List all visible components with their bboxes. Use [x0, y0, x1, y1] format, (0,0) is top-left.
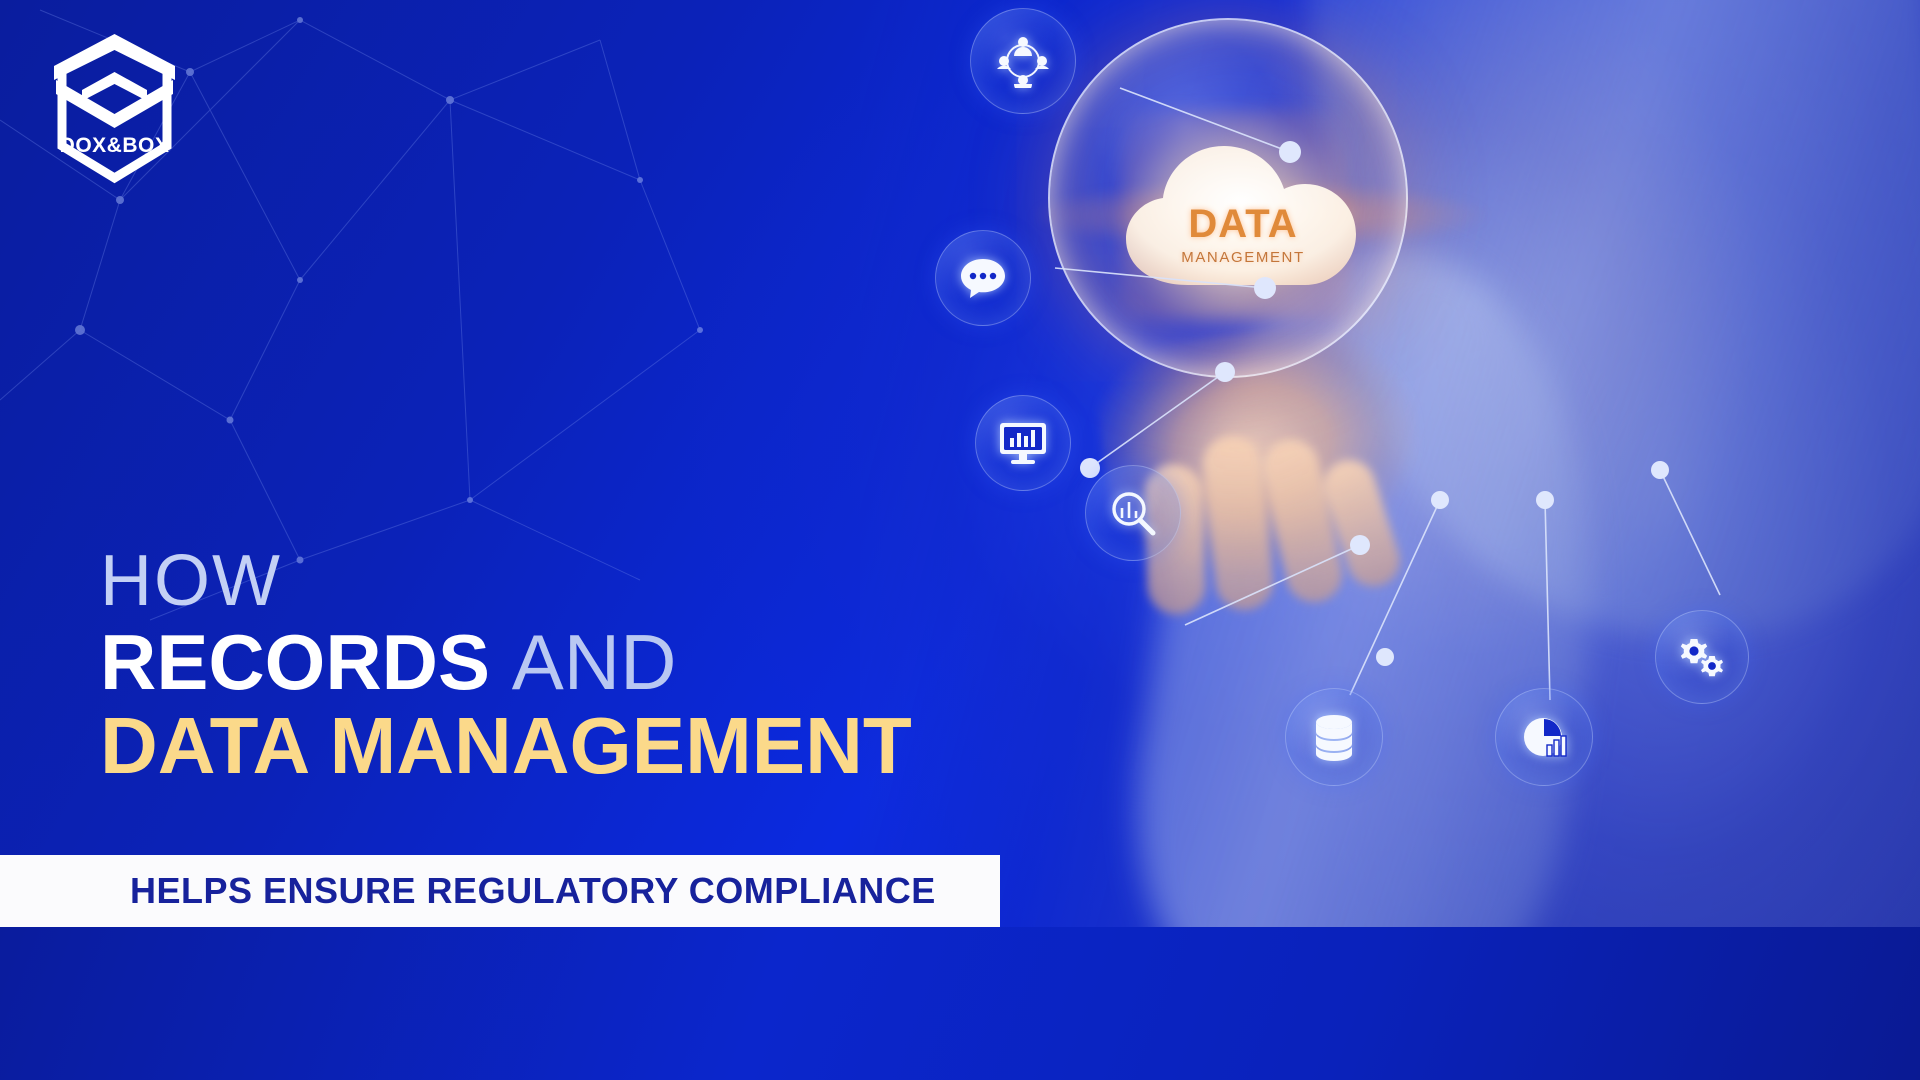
- database-icon-bubble[interactable]: [1285, 688, 1383, 786]
- cloud-subtitle: MANAGEMENT: [1181, 249, 1305, 266]
- logo-mark-icon: DOX&BOX: [42, 28, 187, 188]
- pie-chart-icon: [1520, 714, 1568, 760]
- headline-and: AND: [512, 618, 677, 706]
- headline-records: RECORDS: [100, 618, 512, 706]
- cloud-label: DATA MANAGEMENT: [1118, 140, 1368, 300]
- headline-line-2: RECORDS AND: [100, 623, 1100, 703]
- pie-chart-icon-bubble[interactable]: [1495, 688, 1593, 786]
- dox-and-box-logo[interactable]: DOX&BOX: [42, 28, 187, 188]
- users-network-icon-bubble[interactable]: [970, 8, 1076, 114]
- bottom-fill: [0, 927, 1920, 1080]
- data-cloud-graphic: DATA MANAGEMENT: [1118, 140, 1368, 300]
- banner-root: DATA MANAGEMENT: [0, 0, 1920, 1080]
- monitor-chart-icon-bubble[interactable]: [975, 395, 1071, 491]
- monitor-chart-icon: [998, 420, 1048, 466]
- magnifier-chart-icon: [1108, 488, 1158, 538]
- headline-block: HOW RECORDS AND DATA MANAGEMENT: [100, 545, 1100, 786]
- subtitle-text: HELPS ENSURE REGULATORY COMPLIANCE: [130, 870, 936, 912]
- database-icon: [1312, 713, 1356, 761]
- cloud-title: DATA: [1188, 204, 1297, 244]
- headline-line-3: DATA MANAGEMENT: [100, 705, 1100, 787]
- logo-wordmark: DOX&BOX: [60, 134, 170, 157]
- gears-icon-bubble[interactable]: [1655, 610, 1749, 704]
- gears-icon: [1677, 635, 1727, 679]
- subtitle-band: HELPS ENSURE REGULATORY COMPLIANCE: [0, 855, 1000, 927]
- chat-bubble-icon: [959, 256, 1007, 300]
- headline-line-1: HOW: [100, 545, 1100, 617]
- chat-bubble-icon-bubble[interactable]: [935, 230, 1031, 326]
- users-network-icon: [996, 34, 1050, 88]
